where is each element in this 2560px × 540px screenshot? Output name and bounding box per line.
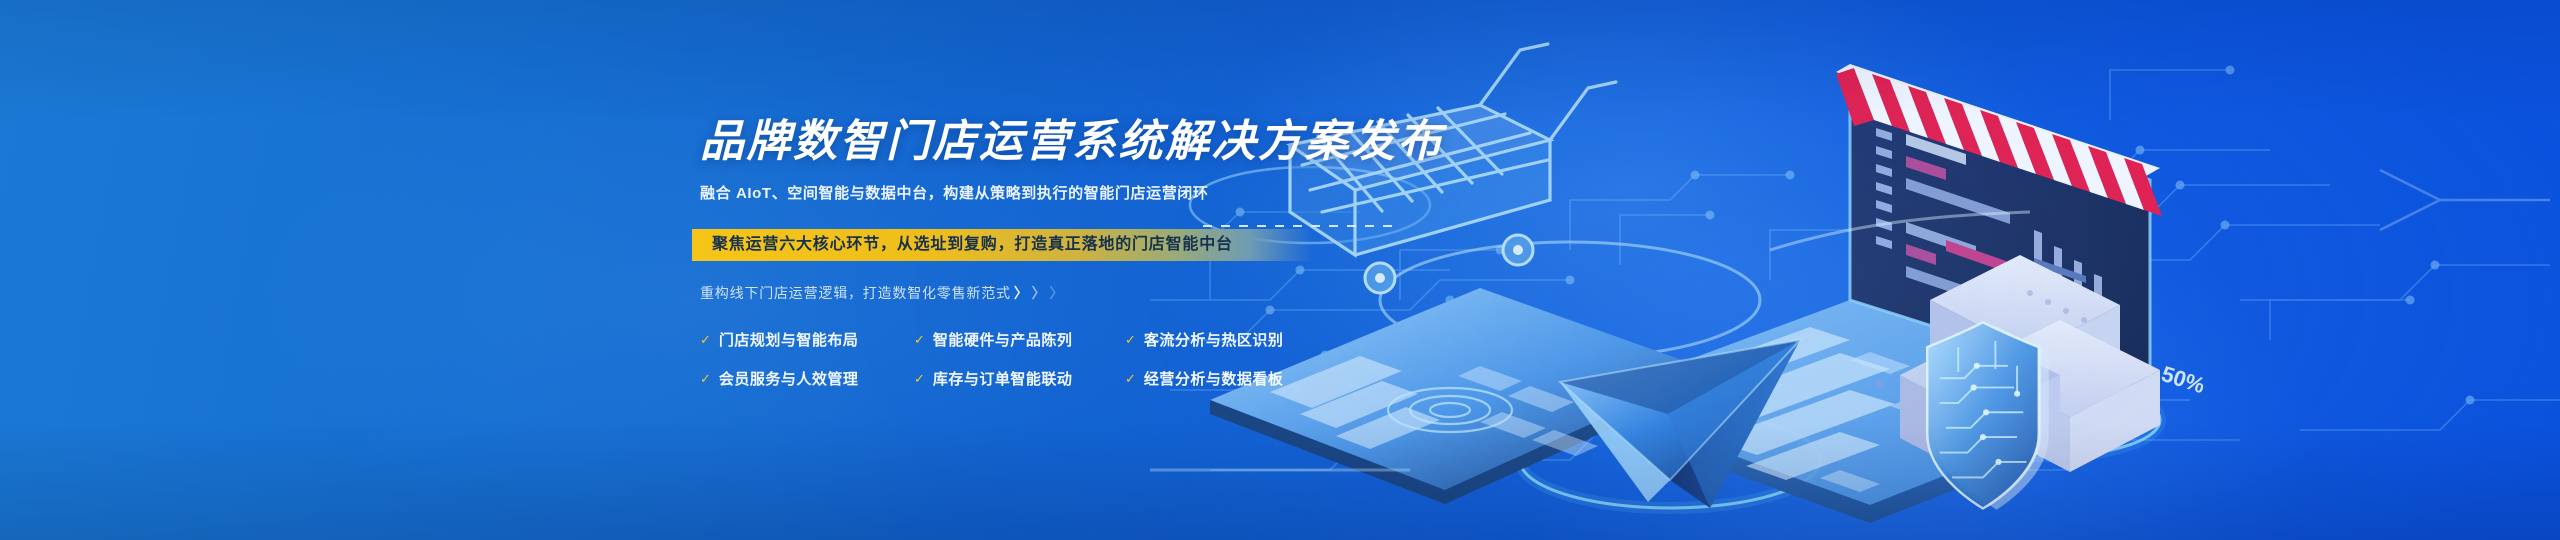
highlight-strip-text: 聚焦运营六大核心环节，从选址到复购，打造真正落地的门店智能中台: [712, 229, 1233, 261]
cta-label: 重构线下门店运营逻辑，打造数智化零售新范式: [700, 283, 1011, 303]
feature-label: 会员服务与人效管理: [719, 368, 859, 389]
feature-item[interactable]: ✓ 库存与订单智能联动: [914, 368, 1125, 389]
cta-link[interactable]: 重构线下门店运营逻辑，打造数智化零售新范式 〉 〉 〉: [700, 283, 1400, 303]
feature-item[interactable]: ✓ 客流分析与热区识别: [1125, 329, 1283, 350]
discount-label: 50%: [2158, 361, 2208, 398]
feature-label: 库存与订单智能联动: [933, 368, 1073, 389]
check-icon: ✓: [1125, 372, 1136, 385]
feature-label: 客流分析与热区识别: [1144, 329, 1284, 350]
feature-item[interactable]: ✓ 智能硬件与产品陈列: [914, 329, 1125, 350]
check-icon: ✓: [700, 372, 711, 385]
copy-block: 品牌数智门店运营系统解决方案发布 融合 AIoT、空间智能与数据中台，构建从策略…: [700, 118, 1400, 407]
check-icon: ✓: [700, 333, 711, 346]
check-icon: ✓: [914, 333, 925, 346]
banner-title: 品牌数智门店运营系统解决方案发布: [700, 118, 1400, 166]
feature-list: ✓ 门店规划与智能布局 ✓ 智能硬件与产品陈列 ✓ 客流分析与热区识别 ✓ 会员…: [700, 329, 1400, 389]
highlight-strip: 聚焦运营六大核心环节，从选址到复购，打造真正落地的门店智能中台: [700, 229, 1320, 261]
check-icon: ✓: [1125, 333, 1136, 346]
banner-subtitle: 融合 AIoT、空间智能与数据中台，构建从策略到执行的智能门店运营闭环: [700, 182, 1400, 203]
chevron-right-icon-3: 〉: [1049, 283, 1064, 303]
chevron-right-icon-1: 〉: [1014, 283, 1029, 303]
feature-label: 经营分析与数据看板: [1144, 368, 1284, 389]
feature-label: 智能硬件与产品陈列: [933, 329, 1073, 350]
promo-banner: 50%: [0, 0, 2560, 540]
feature-item[interactable]: ✓ 会员服务与人效管理: [700, 368, 914, 389]
feature-row: ✓ 会员服务与人效管理 ✓ 库存与订单智能联动 ✓ 经营分析与数据看板: [700, 368, 1400, 389]
feature-row: ✓ 门店规划与智能布局 ✓ 智能硬件与产品陈列 ✓ 客流分析与热区识别: [700, 329, 1400, 350]
check-icon: ✓: [914, 372, 925, 385]
feature-item[interactable]: ✓ 门店规划与智能布局: [700, 329, 914, 350]
feature-label: 门店规划与智能布局: [719, 329, 859, 350]
chevron-right-icon-2: 〉: [1032, 283, 1047, 303]
feature-item[interactable]: ✓ 经营分析与数据看板: [1125, 368, 1283, 389]
